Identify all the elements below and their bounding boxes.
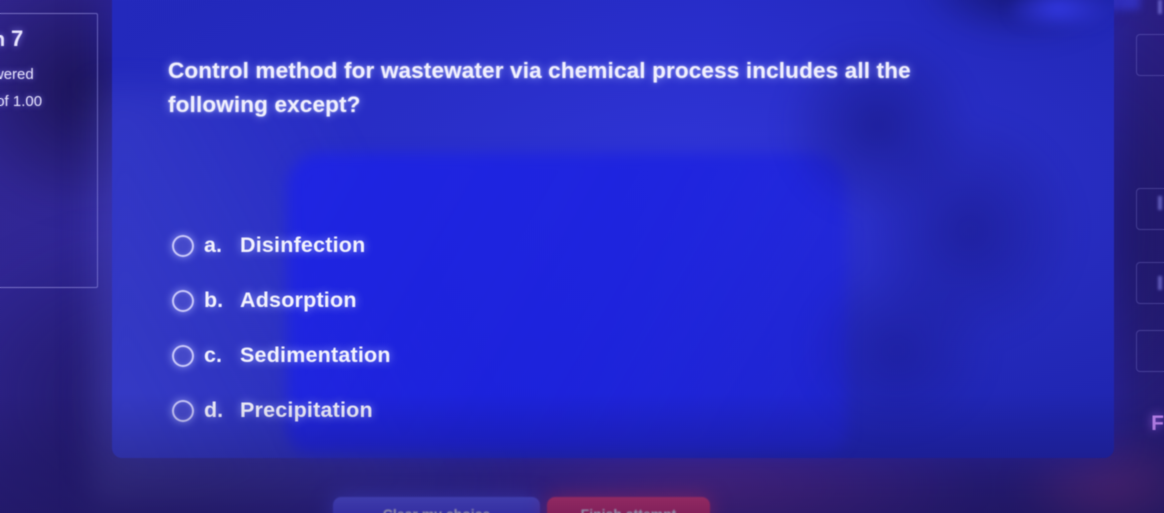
option-text: Adsorption [240, 288, 357, 313]
screenshot-frame: Question 7 Not yet answered Marked out o… [0, 0, 1164, 513]
finish-attempt-button[interactable]: Finish attempt [547, 497, 710, 513]
answer-option-c[interactable]: c. Sedimentation [172, 328, 732, 383]
option-letter: a. [204, 233, 230, 258]
question-marks: Marked out of 1.00 [0, 89, 87, 116]
question-stem-line2: following [168, 92, 274, 117]
question-label: Question [0, 29, 5, 51]
rail-item[interactable] [1136, 262, 1164, 304]
question-stem: Control method for wastewater via chemic… [168, 54, 1014, 122]
clear-my-choice-button[interactable]: Clear my choice [333, 497, 540, 513]
rail-item[interactable] [1136, 34, 1164, 76]
question-status: Not yet answered [0, 62, 87, 89]
question-stem-line1: Control method for wastewater via chemic… [168, 58, 911, 83]
question-info-sidebar: Question 7 Not yet answered Marked out o… [0, 13, 98, 288]
radio-button-icon[interactable] [172, 345, 194, 367]
answer-option-d[interactable]: d. Precipitation [172, 383, 732, 438]
answer-option-a[interactable]: a. Disinfection [172, 218, 732, 273]
action-button-row: Clear my choice Finish attempt [333, 497, 710, 513]
question-heading: Question 7 [0, 26, 87, 52]
option-letter: c. [204, 343, 230, 368]
option-letter: d. [204, 398, 230, 423]
option-letter: b. [204, 288, 230, 313]
radio-button-icon[interactable] [172, 400, 194, 422]
rail-tick-icon [1158, 0, 1162, 14]
question-number: 7 [11, 26, 23, 51]
bright-patch-top-right [1010, 0, 1130, 26]
radio-button-icon[interactable] [172, 290, 194, 312]
answer-option-b[interactable]: b. Adsorption [172, 273, 732, 328]
option-text: Precipitation [240, 398, 373, 423]
rail-letter-label: F [1151, 412, 1164, 436]
answer-options-list: a. Disinfection b. Adsorption c. Sedimen… [172, 218, 732, 438]
option-text: Disinfection [240, 233, 365, 258]
question-card: Control method for wastewater via chemic… [112, 0, 1114, 458]
rail-item[interactable] [1136, 188, 1164, 230]
right-navigation-rail: F [1118, 0, 1164, 513]
option-text: Sedimentation [240, 343, 391, 368]
question-stem-emphasis: except? [274, 92, 360, 117]
rail-item[interactable] [1136, 330, 1164, 372]
radio-button-icon[interactable] [172, 235, 194, 257]
